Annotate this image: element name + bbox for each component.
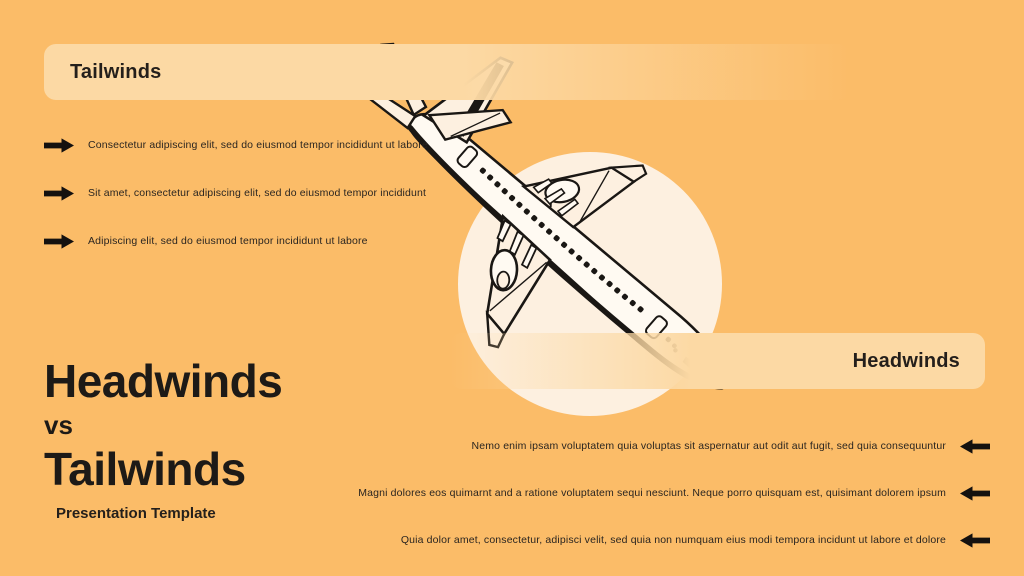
headline-line-vs: vs (44, 407, 282, 443)
arrow-left-icon (960, 439, 990, 454)
headline-subtitle: Presentation Template (56, 503, 282, 525)
list-item: Nemo enim ipsam voluptatem quia voluptas… (350, 434, 990, 458)
tailwinds-banner-title: Tailwinds (70, 61, 161, 84)
slide-canvas: Tailwinds Consectetur adipiscing elit, s… (0, 0, 1024, 576)
list-item-label: Magni dolores eos quimarnt and a ratione… (358, 486, 946, 500)
tailwinds-bullet-list: Consectetur adipiscing elit, sed do eius… (44, 132, 444, 276)
near-engine-intake (497, 271, 510, 289)
list-item-label: Consectetur adipiscing elit, sed do eius… (88, 138, 428, 152)
arrow-right-icon (44, 186, 74, 201)
list-item: Magni dolores eos quimarnt and a ratione… (350, 481, 990, 505)
headwinds-banner-title: Headwinds (853, 350, 960, 373)
list-item-label: Quia dolor amet, consectetur, adipisci v… (401, 533, 946, 547)
tailwinds-banner: Tailwinds (44, 44, 850, 100)
slide-headline: Headwinds vs Tailwinds Presentation Temp… (44, 355, 282, 525)
headline-line-headwinds: Headwinds (44, 355, 282, 407)
headwinds-bullet-list: Nemo enim ipsam voluptatem quia voluptas… (350, 434, 990, 575)
headline-line-tailwinds: Tailwinds (44, 443, 282, 495)
list-item: Quia dolor amet, consectetur, adipisci v… (350, 528, 990, 552)
list-item-label: Nemo enim ipsam voluptatem quia voluptas… (472, 439, 946, 453)
list-item: Adipiscing elit, sed do eiusmod tempor i… (44, 228, 444, 254)
arrow-right-icon (44, 138, 74, 153)
headwinds-banner: Headwinds (450, 333, 985, 389)
arrow-left-icon (960, 533, 990, 548)
arrow-right-icon (44, 234, 74, 249)
list-item: Sit amet, consectetur adipiscing elit, s… (44, 180, 444, 206)
list-item: Consectetur adipiscing elit, sed do eius… (44, 132, 444, 158)
list-item-label: Sit amet, consectetur adipiscing elit, s… (88, 186, 426, 200)
list-item-label: Adipiscing elit, sed do eiusmod tempor i… (88, 234, 368, 248)
arrow-left-icon (960, 486, 990, 501)
